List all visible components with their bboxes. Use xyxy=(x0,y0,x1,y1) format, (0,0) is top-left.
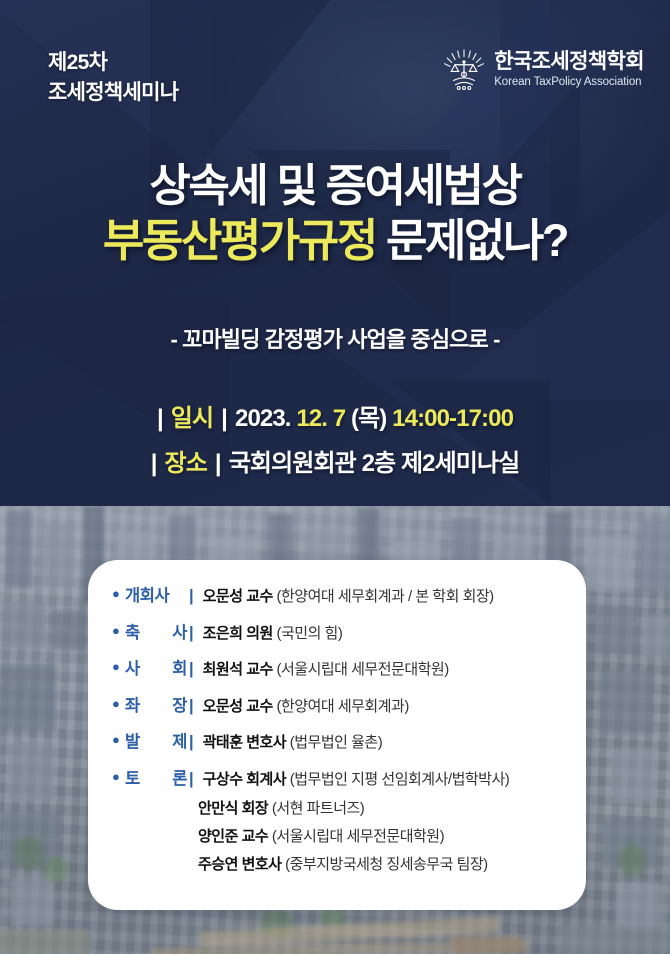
speaker-name: 오문성 교수 xyxy=(203,698,273,715)
building-shape xyxy=(6,510,32,588)
speaker-name: 안만식 회장 xyxy=(198,800,268,817)
tree-shape xyxy=(618,844,646,876)
program-row: ● 토 론 | 구상수 회계사 (법무법인 지평 선임회계사/법학박사) xyxy=(112,765,568,789)
speaker-affiliation: (서울시립대 세무전문대학원) xyxy=(276,661,448,678)
role-part-a: 발 xyxy=(125,728,140,752)
discussant-row: 안만식 회장 (서현 파트너즈) xyxy=(112,797,568,818)
role-divider: | xyxy=(187,624,203,643)
bullet-icon: ● xyxy=(112,624,125,637)
program-list: ● 개회사 | 오문성 교수 (한양여대 세무회계과 / 본 학회 회장) ● … xyxy=(112,582,568,881)
edition-title: 제25차 조세정책세미나 xyxy=(48,48,178,108)
role-divider: | xyxy=(187,733,203,752)
program-row: ● 축 사 | 조은희 의원 (국민의 힘) xyxy=(112,619,568,643)
speaker-name: 오문성 교수 xyxy=(203,588,273,605)
program-speaker: 안만식 회장 (서현 파트너즈) xyxy=(198,797,364,818)
event-place-row: | 장소 | 국회의원회관 2층 제2세미나실 xyxy=(151,443,520,478)
program-role: 사 회 xyxy=(125,655,187,679)
bullet-icon: ● xyxy=(112,770,125,783)
speaker-name: 주승연 변호사 xyxy=(198,856,281,873)
seminar-poster: 제25차 조세정책세미나 xyxy=(0,0,670,954)
program-role: 토 론 xyxy=(125,765,187,789)
speaker-affiliation: (중부지방국세청 징세송무국 팀장) xyxy=(285,856,488,873)
role-part-b: 론 xyxy=(172,765,187,789)
speaker-name: 최원석 교수 xyxy=(203,661,273,678)
building-shape xyxy=(8,742,54,802)
title-line-2: 부동산평가규정 문제없나? xyxy=(0,213,670,268)
program-speaker: 최원석 교수 (서울시립대 세무전문대학원) xyxy=(203,658,449,679)
edition-line-2: 조세정책세미나 xyxy=(48,78,178,108)
speaker-affiliation: (법무법인 율촌) xyxy=(290,734,382,751)
date-weekday: (목) xyxy=(351,405,386,432)
program-role: 축 사 xyxy=(125,619,187,643)
building-shape xyxy=(452,936,522,954)
role-divider: | xyxy=(187,660,203,679)
building-shape xyxy=(560,926,670,954)
date-year: 2023. xyxy=(235,405,291,432)
role-part-a: 좌 xyxy=(125,692,140,716)
speaker-affiliation: (한양여대 세무회계과) xyxy=(276,698,408,715)
role-divider: | xyxy=(187,697,203,716)
place-value: 국회의원회관 2층 제2세미나실 xyxy=(229,443,520,478)
building-shape xyxy=(10,878,54,926)
program-speaker: 주승연 변호사 (중부지방국세청 징세송무국 팀장) xyxy=(198,853,488,874)
program-role: 개회사 xyxy=(125,582,187,606)
speaker-name: 곽태훈 변호사 xyxy=(203,734,286,751)
main-title: 상속세 및 증여세법상 부동산평가규정 문제없나? xyxy=(0,158,670,269)
bullet-icon: ● xyxy=(112,660,125,673)
bar-left: | xyxy=(157,405,171,433)
place-label: 장소 xyxy=(165,443,207,478)
building-shape xyxy=(600,672,654,734)
bullet-icon: ● xyxy=(112,697,125,710)
role-part-b: 장 xyxy=(172,692,187,716)
date-label: 일시 xyxy=(171,398,213,433)
building-shape xyxy=(642,614,670,658)
association-name-block: 한국조세정책학회 Korean TaxPolicy Association xyxy=(494,51,644,89)
role-part-a: 사 xyxy=(125,655,140,679)
program-speaker: 양인준 교수 (서울시립대 세무전문대학원) xyxy=(198,825,444,846)
role-part-a: 토 xyxy=(125,765,140,789)
discussant-row: 주승연 변호사 (중부지방국세청 징세송무국 팀장) xyxy=(112,853,568,874)
building-shape xyxy=(0,930,90,954)
program-row: ● 개회사 | 오문성 교수 (한양여대 세무회계과 / 본 학회 회장) xyxy=(112,582,568,606)
speaker-affiliation: (서울시립대 세무전문대학원) xyxy=(272,828,444,845)
program-speaker: 구상수 회계사 (법무법인 지평 선임회계사/법학박사) xyxy=(203,768,510,789)
association-name-english: Korean TaxPolicy Association xyxy=(494,77,644,89)
program-row: ● 발 제 | 곽태훈 변호사 (법무법인 율촌) xyxy=(112,728,568,752)
building-shape xyxy=(612,748,656,804)
title-question: 문제없나? xyxy=(386,215,567,266)
role-part-b: 회 xyxy=(172,655,187,679)
bar-right: | xyxy=(213,405,235,433)
building-shape xyxy=(0,664,56,730)
association-logo: 한국조세정책학회 Korean TaxPolicy Association xyxy=(443,48,644,92)
bar-left: | xyxy=(151,450,165,478)
role-divider: | xyxy=(187,587,203,606)
association-name-korean: 한국조세정책학회 xyxy=(494,51,644,72)
speaker-name: 양인준 교수 xyxy=(198,828,268,845)
building-shape xyxy=(586,536,632,592)
program-speaker: 오문성 교수 (한양여대 세무회계과) xyxy=(203,695,409,716)
role-part-b: 사 xyxy=(172,619,187,643)
program-speaker: 곽태훈 변호사 (법무법인 율촌) xyxy=(203,731,383,752)
tree-shape xyxy=(44,856,68,882)
speaker-name: 조은희 의원 xyxy=(203,625,273,642)
scales-of-justice-icon xyxy=(443,48,485,92)
edition-line-1: 제25차 xyxy=(48,48,178,78)
building-shape xyxy=(40,524,74,586)
title-highlight: 부동산평가규정 xyxy=(103,215,376,266)
building-shape xyxy=(2,602,46,648)
speaker-affiliation: (법무법인 지평 선임회계사/법학박사) xyxy=(290,771,510,788)
role-divider: | xyxy=(187,770,203,789)
tree-shape xyxy=(14,836,44,870)
title-line-1: 상속세 및 증여세법상 xyxy=(0,158,670,213)
discussant-row: 양인준 교수 (서울시립대 세무전문대학원) xyxy=(112,825,568,846)
program-speaker: 조은희 의원 (국민의 힘) xyxy=(203,622,343,643)
building-shape xyxy=(616,882,662,928)
bullet-icon: ● xyxy=(112,733,125,746)
discussant-sub-list: 안만식 회장 (서현 파트너즈) 양인준 교수 (서울시립대 세무전문대학원) … xyxy=(112,797,568,874)
building-shape xyxy=(596,606,636,654)
poster-header: 제25차 조세정책세미나 xyxy=(0,0,670,130)
date-day: 12. 7 xyxy=(296,405,345,432)
bar-right: | xyxy=(207,450,229,478)
event-info: | 일시 | 2023. 12. 7 (목) 14:00-17:00 | 장소 … xyxy=(0,398,670,478)
date-value: 2023. 12. 7 (목) 14:00-17:00 xyxy=(235,398,513,433)
building-shape xyxy=(640,520,670,592)
bullet-icon: ● xyxy=(112,587,125,600)
speaker-affiliation: (한양여대 세무회계과 / 본 학회 회장) xyxy=(276,588,493,605)
role-part-a: 축 xyxy=(125,619,140,643)
date-time: 14:00-17:00 xyxy=(392,405,513,432)
role-part-b: 제 xyxy=(172,728,187,752)
speaker-affiliation: (서현 파트너즈) xyxy=(272,800,364,817)
subtitle: - 꼬마빌딩 감정평가 사업을 중심으로 - xyxy=(0,322,670,354)
event-date-row: | 일시 | 2023. 12. 7 (목) 14:00-17:00 xyxy=(157,398,513,433)
speaker-name: 구상수 회계사 xyxy=(203,771,286,788)
speaker-affiliation: (국민의 힘) xyxy=(276,625,342,642)
program-row: ● 사 회 | 최원석 교수 (서울시립대 세무전문대학원) xyxy=(112,655,568,679)
program-card: ● 개회사 | 오문성 교수 (한양여대 세무회계과 / 본 학회 회장) ● … xyxy=(88,560,586,910)
role-part-a: 개회사 xyxy=(125,582,169,606)
program-speaker: 오문성 교수 (한양여대 세무회계과 / 본 학회 회장) xyxy=(203,585,494,606)
building-shape xyxy=(52,610,86,650)
program-role: 발 제 xyxy=(125,728,187,752)
program-row: ● 좌 장 | 오문성 교수 (한양여대 세무회계과) xyxy=(112,692,568,716)
program-role: 좌 장 xyxy=(125,692,187,716)
